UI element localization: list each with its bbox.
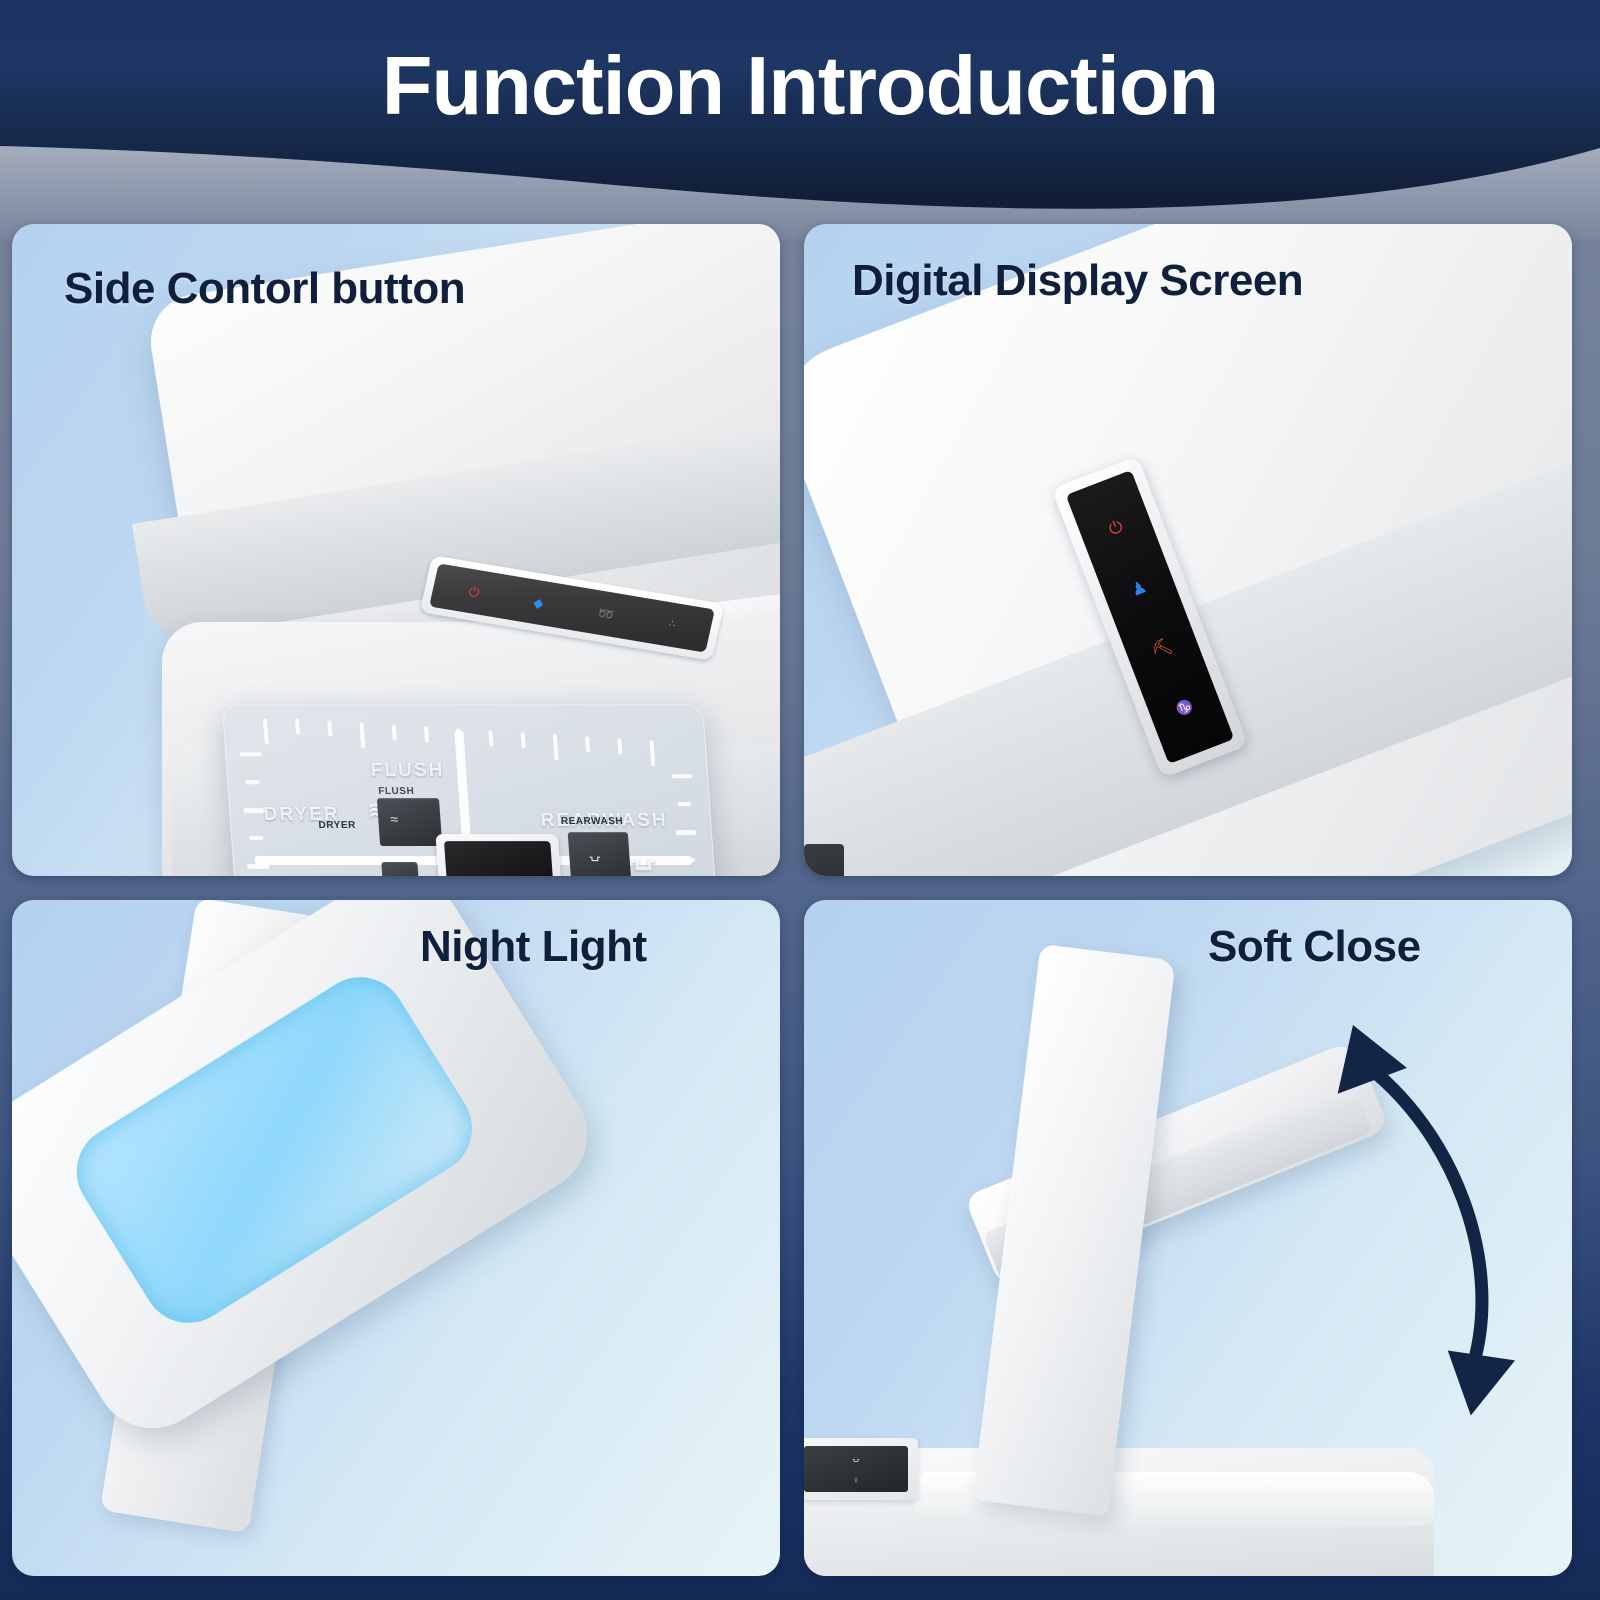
- toilet-seat-open: [12, 900, 609, 1450]
- control-panel-detail[interactable]: ≈ FLUSH DRYER STOP ⍽ REARWASH ♀ LADYWASH: [320, 792, 631, 876]
- stop-key[interactable]: [381, 862, 419, 876]
- flush-key-label: FLUSH: [378, 786, 415, 797]
- rearwash-key-label: REARWASH: [561, 816, 624, 827]
- magnifier-overlay: FLUSH DRYER REARWASH STOP LADYWASH ≋ ⍽ ♀…: [222, 704, 726, 876]
- seat-icon[interactable]: ◆: [532, 595, 545, 609]
- seat-sensor-icon[interactable]: ♟: [1129, 578, 1149, 599]
- ghost-label-flush: FLUSH: [370, 760, 445, 782]
- rearwash-icon: ⍽: [589, 846, 601, 860]
- power-icon[interactable]: ⏻: [1106, 517, 1125, 538]
- side-control-panel-face: ⍽ ♀: [804, 1446, 908, 1492]
- flush-key[interactable]: [377, 798, 442, 846]
- heated-seat-icon[interactable]: ⛏: [1149, 637, 1175, 661]
- double-curved-arrow-icon: [1304, 1010, 1544, 1430]
- ghost-rearwash-icon: ⍽: [630, 836, 657, 871]
- page-title: Function Introduction: [0, 44, 1600, 127]
- card-side-control-button[interactable]: ⏻ ◆ ➿ ∴: [12, 224, 780, 876]
- card-title-night-light: Night Light: [420, 922, 647, 972]
- side-control-panel[interactable]: ⍽ ♀: [804, 1438, 918, 1500]
- ladywash-icon[interactable]: ♀: [853, 1476, 860, 1485]
- side-control-fragment: [804, 844, 844, 876]
- nozzle-icon[interactable]: ∴: [668, 619, 676, 630]
- card-night-light[interactable]: Night Light: [12, 900, 780, 1576]
- panel-screen: [444, 841, 554, 876]
- card-title-soft-close: Soft Close: [1208, 922, 1421, 972]
- power-icon[interactable]: ⏻: [468, 584, 481, 598]
- feature-card-grid: ⏻ ◆ ➿ ∴: [12, 224, 1588, 1576]
- dryer-key-label: DRYER: [318, 820, 356, 831]
- panel-screen-bezel: [435, 834, 562, 876]
- rearwash-icon[interactable]: ⍽: [853, 1453, 860, 1462]
- heated-seat-icon[interactable]: ➿: [597, 606, 616, 621]
- card-digital-display-screen[interactable]: ⏻ ♟ ⛏ ♑ Digital Display Screen: [804, 224, 1572, 876]
- card-soft-close[interactable]: ⍽ ♀ Soft Close: [804, 900, 1572, 1576]
- water-spray-icon[interactable]: ♑: [1174, 698, 1195, 717]
- card-title-side-control: Side Contorl button: [64, 264, 465, 314]
- card-title-digital-display: Digital Display Screen: [852, 256, 1303, 306]
- flush-icon: ≈: [390, 812, 399, 826]
